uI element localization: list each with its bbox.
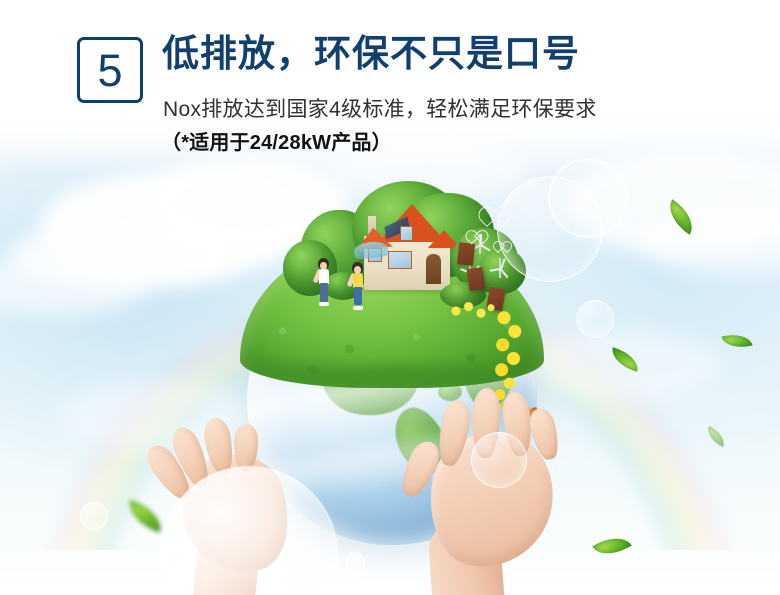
child-shoes [319,302,329,306]
child-legs [354,287,362,305]
flower-patch [446,300,496,322]
signboard [467,267,486,291]
step-number-badge: 5 [77,37,143,103]
eco-feature-banner: 5 低排放，环保不只是口号 Nox排放达到国家4级标准，轻松满足环保要求 （*适… [0,0,780,595]
child-torso [319,269,329,284]
bubble [345,551,365,579]
window [400,226,413,241]
header-block: 5 低排放，环保不只是口号 Nox排放达到国家4级标准，轻松满足环保要求 （*适… [0,0,780,175]
house [352,196,468,292]
subtitle-text: Nox排放达到国家4级标准，轻松满足环保要求 [163,93,597,123]
child-torso [353,273,363,288]
window [388,251,412,269]
heart-icon [490,198,507,215]
bubble [576,300,614,338]
bubble [471,432,527,488]
signboard [457,242,475,266]
heart-icon [500,236,510,246]
heart-icon [474,224,486,236]
page-title: 低排放，环保不只是口号 [162,34,580,75]
child-legs [320,283,328,303]
bubble [80,502,108,530]
child-shoes [353,306,363,310]
footnote-text: （*适用于24/28kW产品） [161,126,392,155]
door [426,254,441,284]
hand-right [400,390,610,595]
